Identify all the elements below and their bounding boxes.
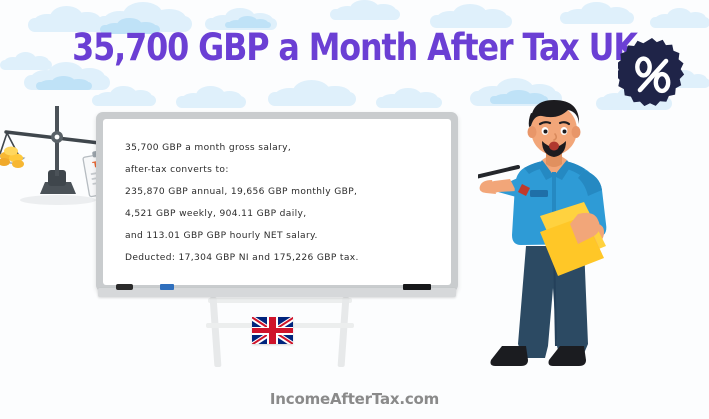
whiteboard-line-3: 235,870 GBP annual, 19,656 GBP monthly G… — [125, 181, 437, 203]
stand-leg-right — [338, 297, 350, 367]
whiteboard-line-4: 4,521 GBP weekly, 904.11 GBP daily, — [125, 203, 437, 225]
poster-canvas: TAX 35,700 GBP a Month After Tax UK — [0, 0, 709, 419]
uk-flag-icon — [252, 317, 293, 344]
whiteboard-line-1: 35,700 GBP a month gross salary, — [125, 137, 437, 159]
black-marker-icon — [403, 284, 431, 290]
whiteboard-surface: 35,700 GBP a month gross salary,after-ta… — [103, 119, 451, 285]
stand-rail-top — [208, 298, 352, 303]
cloud-14 — [176, 86, 246, 108]
teacher-character — [478, 96, 668, 384]
whiteboard-line-5: and 113.01 GBP GBP hourly NET salary. — [125, 225, 437, 247]
cloud-11 — [36, 76, 92, 90]
whiteboard: 35,700 GBP a month gross salary,after-ta… — [96, 112, 458, 298]
cloud-12 — [0, 52, 52, 70]
blue-marker-icon — [160, 284, 174, 290]
whiteboard-tray — [98, 288, 456, 297]
whiteboard-line-2: after-tax converts to: — [125, 159, 437, 181]
cloud-8 — [560, 2, 634, 24]
cloud-9 — [650, 8, 709, 28]
stand-leg-left — [210, 297, 222, 367]
cloud-6 — [330, 0, 400, 20]
whiteboard-text: 35,700 GBP a month gross salary,after-ta… — [125, 137, 437, 270]
percent-badge-icon — [618, 38, 686, 106]
whiteboard-frame: 35,700 GBP a month gross salary,after-ta… — [96, 112, 458, 292]
whiteboard-line-6: Deducted: 17,304 GBP NI and 175,226 GBP … — [125, 247, 437, 269]
cloud-16 — [376, 88, 442, 108]
page-title: 35,700 GBP a Month After Tax UK — [50, 26, 660, 69]
footer-brand: IncomeAfterTax.com — [0, 390, 709, 408]
eraser-icon — [116, 284, 133, 290]
cloud-15 — [268, 80, 356, 106]
cloud-7 — [430, 4, 512, 28]
